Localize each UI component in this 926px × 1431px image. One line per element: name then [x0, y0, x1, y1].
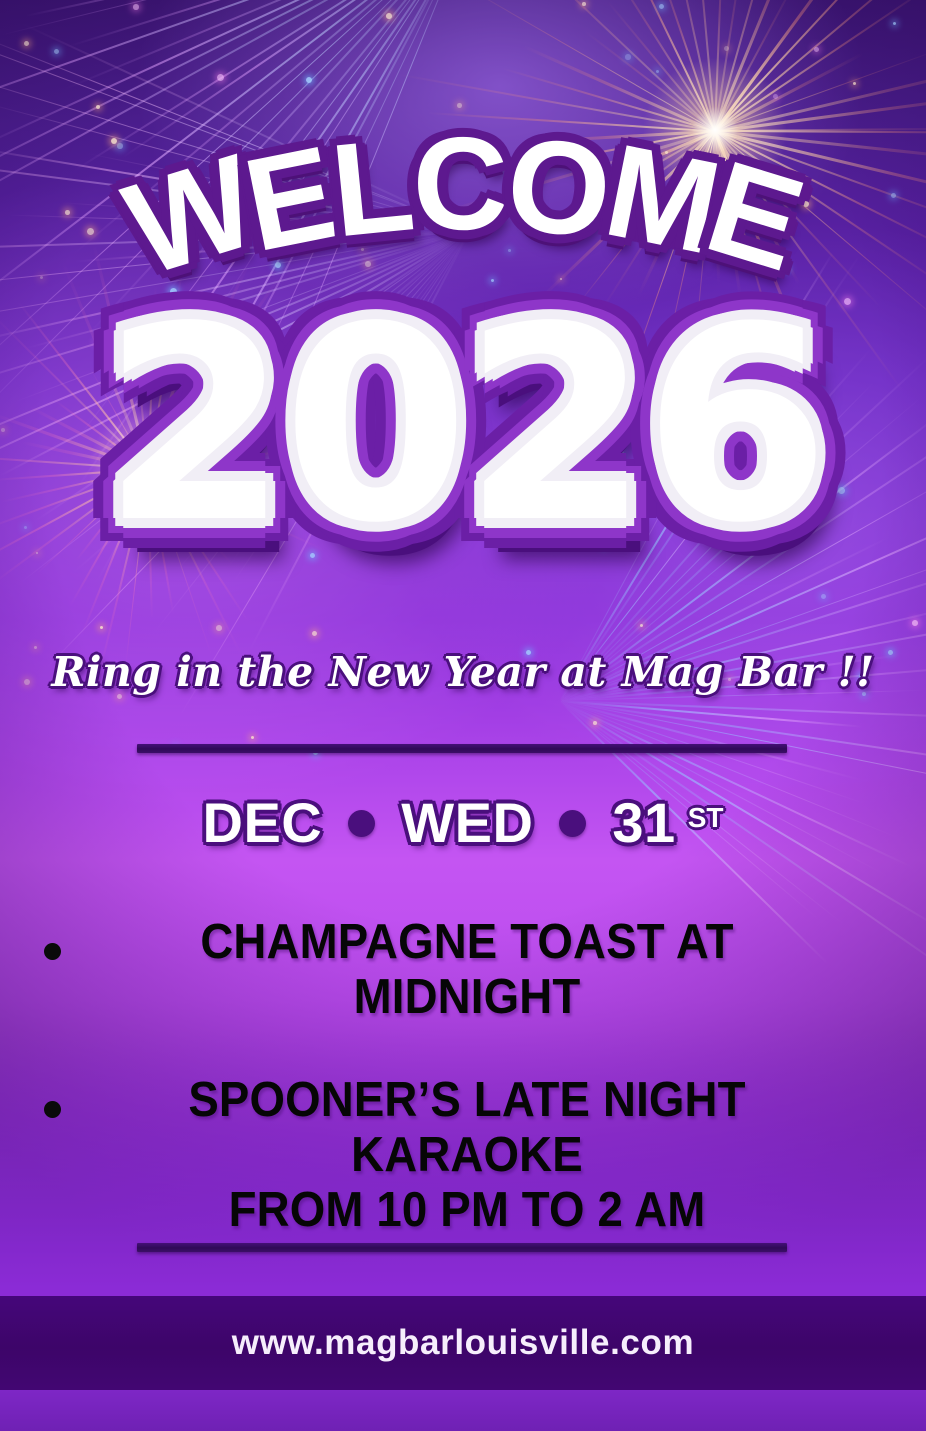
tagline-text: Ring in the New Year at Mag Bar !! [0, 648, 926, 696]
footer-band: www.magbarlouisville.com [0, 1296, 926, 1390]
date-separator-dot-2 [559, 810, 586, 837]
bottom-accent-bar [0, 1390, 926, 1431]
date-separator-dot-1 [348, 810, 375, 837]
date-day-suffix: ST [688, 804, 724, 832]
highlight-item: CHAMPAGNE TOAST AT MIDNIGHT [0, 915, 926, 1025]
event-highlights-list: CHAMPAGNE TOAST AT MIDNIGHTSPOONER’S LAT… [0, 915, 926, 1285]
highlight-line: SPOONER’S LATE NIGHT KARAOKE [130, 1073, 804, 1183]
highlight-item: SPOONER’S LATE NIGHT KARAOKEFROM 10 PM T… [0, 1073, 926, 1238]
headline-letter-l-2: L [325, 118, 418, 257]
date-month: DEC [203, 795, 323, 851]
divider-bottom [137, 1243, 787, 1252]
highlight-text: CHAMPAGNE TOAST AT MIDNIGHT [130, 915, 897, 1025]
website-url[interactable]: www.magbarlouisville.com [232, 1323, 694, 1363]
bullet-dot-icon [44, 1101, 61, 1118]
date-weekday: WED [401, 795, 533, 851]
bullet-dot-icon [44, 943, 61, 960]
headline-letter-c-3: C [412, 118, 507, 250]
new-year-event-poster: WELCOME 2026 Ring in the New Year at Mag… [0, 0, 926, 1431]
event-date-row: DEC WED 31 ST [0, 795, 926, 851]
highlight-line: CHAMPAGNE TOAST AT MIDNIGHT [130, 915, 804, 1025]
highlight-text: SPOONER’S LATE NIGHT KARAOKEFROM 10 PM T… [130, 1073, 897, 1238]
divider-top [137, 744, 787, 753]
highlight-line: FROM 10 PM TO 2 AM [130, 1183, 804, 1238]
year-heading: 2026 [0, 292, 926, 560]
date-day: 31 [612, 795, 675, 851]
